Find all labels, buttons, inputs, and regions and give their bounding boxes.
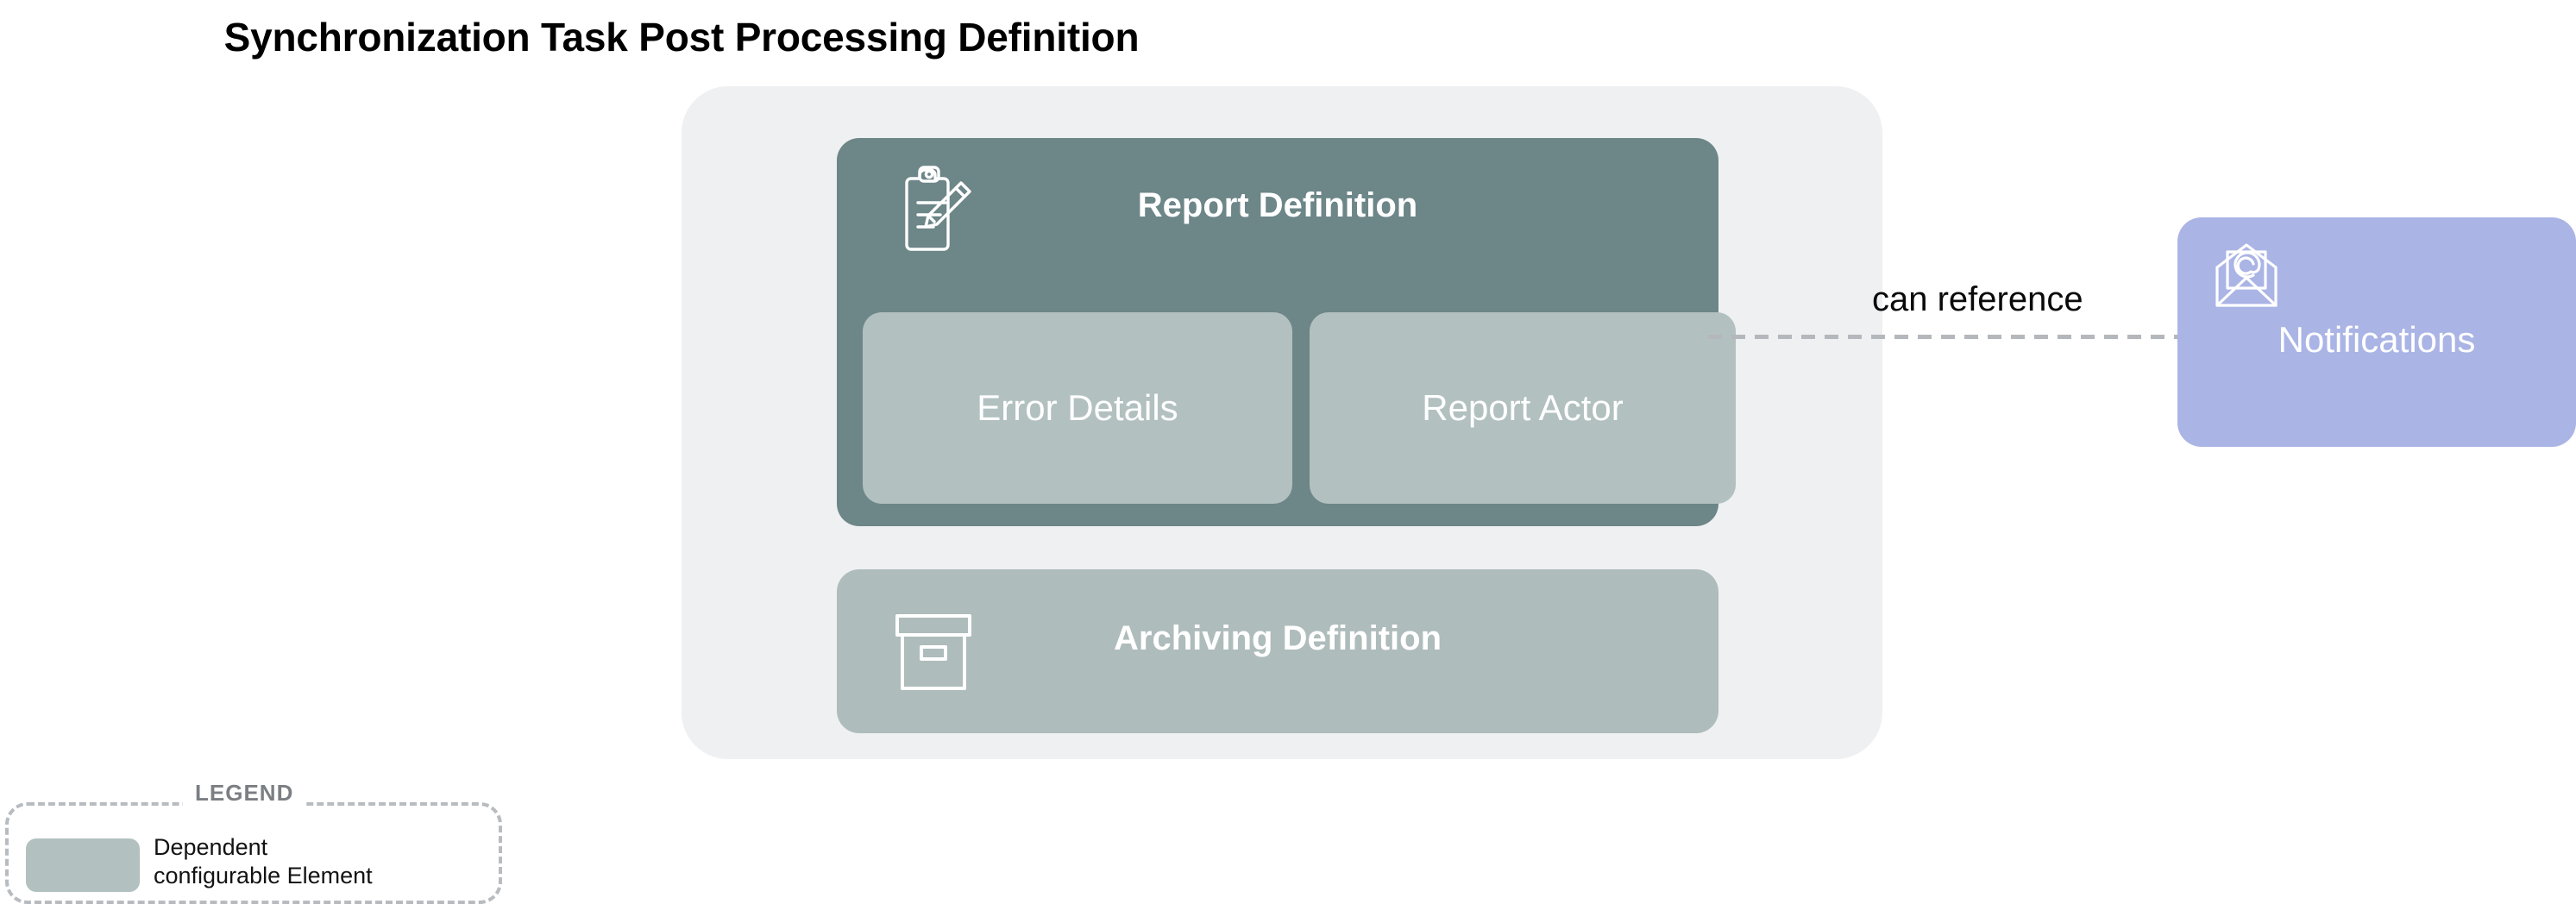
legend-label-dependent-configurable-element: Dependent configurable Element [154,833,373,890]
page-title-text: Synchronization Task Post Processing Def… [224,14,1140,60]
notifications-box[interactable]: Notifications [2177,217,2576,447]
envelope-at-icon [2205,235,2288,317]
archiving-definition-box[interactable]: Archiving Definition [837,569,1718,733]
archiving-definition-title: Archiving Definition [837,619,1718,658]
report-actor-label: Report Actor [1310,312,1736,504]
notifications-title: Notifications [2177,319,2576,361]
legend-swatch-dependent-configurable-element [26,838,140,892]
legend-title: LEGEND [183,780,305,807]
report-definition-box[interactable]: Report Definition Error Details Report A… [837,138,1718,526]
report-actor-box[interactable]: Report Actor [1310,312,1736,504]
error-details-label: Error Details [863,312,1292,504]
can-reference-label: can reference [1872,280,2083,319]
report-definition-header: Report Definition [837,138,1718,298]
error-details-box[interactable]: Error Details [863,312,1292,504]
page-title: Synchronization Task Post Processing Def… [0,14,2576,60]
can-reference-connector [1708,335,2184,339]
report-definition-title: Report Definition [837,186,1718,225]
